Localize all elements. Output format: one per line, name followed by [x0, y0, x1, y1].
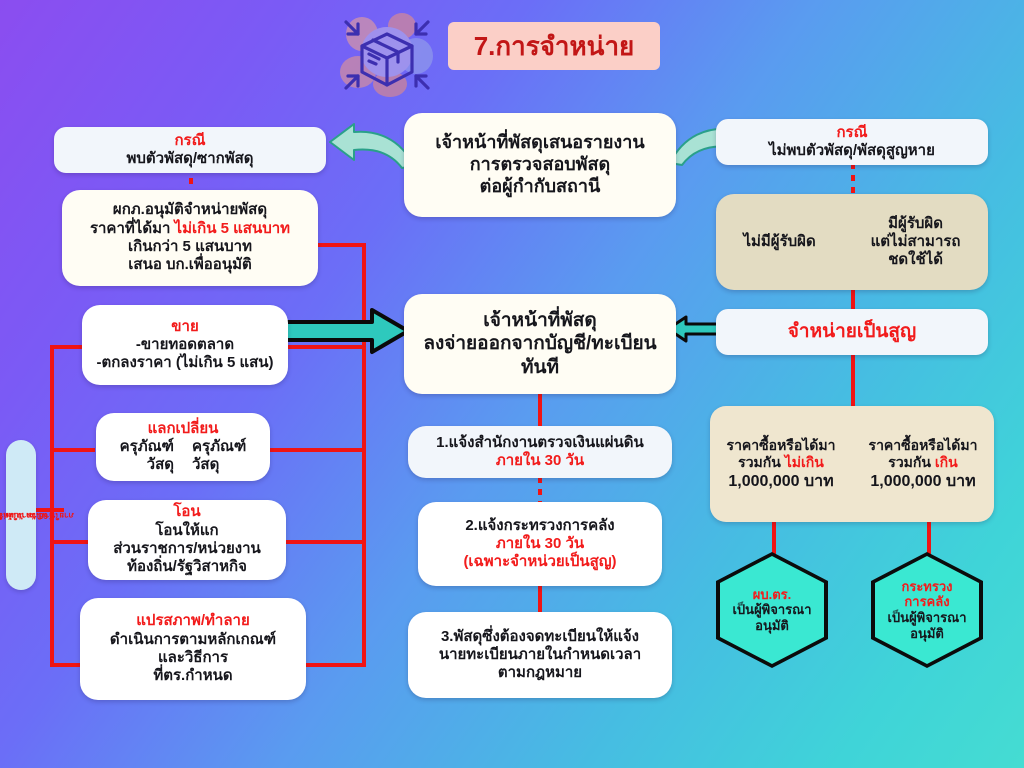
connector-center-to-step1 [538, 394, 542, 427]
connector-step2-to-step3 [538, 585, 542, 613]
option-transform-destroy[interactable]: แปรสภาพ/ทำลาย ดำเนินการตามหลักเกณฑ์ และว… [80, 598, 306, 700]
approve-disposal-line-1: ผกภ.อนุมัติจำหน่ายพัสดุ [113, 201, 267, 219]
price1-line-2a: รวมกัน [738, 454, 785, 470]
connector-loss-to-prices [851, 355, 855, 407]
option-destroy-title: แปรสภาพ/ทำลาย [136, 612, 249, 630]
option-destroy-line-3: ที่ตร.กำหนด [153, 667, 232, 685]
step-notify-registrar[interactable]: 3.พัสดุซึ่งต้องจดทะเบียนให้แจ้ง นายทะเบี… [408, 612, 672, 698]
connector-destroy-to-bus [305, 663, 366, 667]
approver-finance-ministry-hex[interactable]: กระทรวง การคลัง เป็นผู้พิจารณา อนุมัติ [871, 552, 983, 668]
price-exceeding-box[interactable]: ราคาซื้อหรือได้มา รวมกัน เกิน 1,000,000 … [852, 406, 994, 522]
approver2-line-2: อนุมัติ [910, 626, 944, 642]
option-destroy-line-2: และวิธีการ [158, 649, 228, 667]
option-exchange-row-2: วัสดุ วัสดุ [147, 456, 220, 474]
connector-options-bus [362, 243, 366, 665]
liability-responsible-l2: แต่ไม่สามารถ [871, 233, 961, 251]
officer-report-box[interactable]: เจ้าหน้าที่พัสดุเสนอรายงาน การตรวจสอบพัส… [404, 113, 676, 217]
approver2-line-1: เป็นผู้พิจารณา [887, 610, 966, 626]
case-not-found-box[interactable]: กรณี ไม่พบตัวพัสดุ/พัสดุสูญหาย [716, 119, 988, 165]
price2-line-3: 1,000,000 บาท [870, 472, 975, 492]
liability-responsible-group: มีผู้รับผิด แต่ไม่สามารถ ชดใช้ได้ [871, 215, 961, 270]
officer-report-line-1: เจ้าหน้าที่พัสดุเสนอรายงาน [435, 132, 644, 154]
price2-line-2: รวมกัน เกิน [888, 454, 957, 472]
write-off-line-3: ทันที [521, 356, 559, 379]
approver2-title-2: การคลัง [904, 594, 949, 610]
option-exchange[interactable]: แลกเปลี่ยน ครุภัณฑ์ ครุภัณฑ์ วัสดุ วัสดุ [96, 413, 270, 481]
option-destroy-line-1: ดำเนินการตามหลักเกณฑ์ [110, 631, 276, 649]
case-found-label: กรณี [174, 132, 205, 150]
option-exchange-row-1: ครุภัณฑ์ ครุภัณฑ์ [120, 438, 247, 456]
write-off-line-1: เจ้าหน้าที่พัสดุ [483, 309, 596, 332]
price1-line-1: ราคาซื้อหรือได้มา [727, 437, 836, 455]
approve-disposal-line-2: ราคาที่ได้มา ไม่เกิน 5 แสนบาท [90, 220, 290, 238]
step-notify-finance-ministry[interactable]: 2.แจ้งกระทรวงการคลัง ภายใน 30 วัน (เฉพาะ… [418, 502, 662, 586]
approve-disposal-line-2b: ไม่เกิน 5 แสนบาท [175, 220, 290, 237]
write-off-line-2: ลงจ่ายออกจากบัญชี/ทะเบียน [423, 332, 656, 355]
option-sell[interactable]: ขาย -ขายทอดตลาด -ตกลงราคา (ไม่เกิน 5 แสน… [82, 305, 288, 385]
officer-report-line-2: การตรวจสอบพัสดุ [470, 154, 610, 176]
price2-line-1: ราคาซื้อหรือได้มา [869, 437, 978, 455]
price2-line-2b: เกิน [935, 454, 958, 470]
option-exchange-l1b: ครุภัณฑ์ [192, 438, 246, 456]
option-sell-line-1: -ขายทอดตลาด [136, 336, 234, 354]
approver1-line-1: เป็นผู้พิจารณา [732, 602, 811, 618]
approve-disposal-line-2a: ราคาที่ได้มา [90, 220, 175, 237]
page-title-text: 7.การจำหน่าย [474, 26, 635, 67]
diagram-canvas: 7.การจำหน่าย [0, 0, 1024, 768]
arrow-right-thick-icon [286, 308, 410, 354]
case-not-found-label: กรณี [836, 124, 867, 142]
step2-line-3: (เฉพาะจำหน่วยเป็นสูญ) [463, 553, 616, 571]
option-sell-title: ขาย [171, 318, 198, 336]
option-transfer-title: โอน [173, 503, 200, 521]
price-not-exceeding-box[interactable]: ราคาซื้อหรือได้มา รวมกัน ไม่เกิน 1,000,0… [710, 406, 852, 522]
connector-step1-to-step2 [538, 477, 542, 503]
approver-commissioner-hex[interactable]: ผบ.ตร. เป็นผู้พิจารณา อนุมัติ [716, 552, 828, 668]
page-title: 7.การจำหน่าย [448, 22, 660, 70]
step3-line-1: 3.พัสดุซึ่งต้องจดทะเบียนให้แจ้ง [441, 628, 639, 646]
price1-line-3: 1,000,000 บาท [728, 472, 833, 492]
liability-box[interactable]: ไม่มีผู้รับผิด มีผู้รับผิด แต่ไม่สามารถ … [716, 194, 988, 290]
option-exchange-title: แลกเปลี่ยน [148, 420, 219, 438]
approver2-title-1: กระทรวง [901, 579, 952, 595]
liability-no-responsible: ไม่มีผู้รับผิด [743, 233, 815, 251]
connector-liability-to-loss [851, 290, 855, 310]
write-off-box[interactable]: เจ้าหน้าที่พัสดุ ลงจ่ายออกจากบัญชี/ทะเบี… [404, 294, 676, 394]
step2-line-2: ภายใน 30 วัน [496, 535, 584, 553]
connector-exchange-to-bus [270, 448, 366, 452]
option-transfer-line-1: โอนให้แก [155, 522, 218, 540]
step-notify-audit-office[interactable]: 1.แจ้งสำนักงานตรวจเงินแผ่นดิน ภายใน 30 ว… [408, 426, 672, 478]
officer-report-line-3: ต่อผู้กำกับสถานี [480, 176, 601, 198]
approve-disposal-box[interactable]: ผกภ.อนุมัติจำหน่ายพัสดุ ราคาที่ได้มา ไม่… [62, 190, 318, 286]
connector-left-bus [50, 345, 54, 665]
option-sell-line-2: -ตกลงราคา (ไม่เกิน 5 แสน) [96, 354, 273, 372]
step3-line-2: นายทะเบียนภายในกำหนดเวลา [439, 646, 641, 664]
step1-line-1: 1.แจ้งสำนักงานตรวจเงินแผ่นดิน [436, 434, 644, 452]
option-transfer-line-2: ส่วนราชการ/หน่วยงาน [113, 540, 261, 558]
write-off-as-loss-label: จำหน่ายเป็นสูญ [788, 320, 916, 343]
write-off-as-loss-box[interactable]: จำหน่ายเป็นสูญ [716, 309, 988, 355]
option-exchange-l2b: วัสดุ [192, 456, 219, 474]
liability-responsible-l3: ชดใช้ได้ [871, 251, 961, 269]
connector-transfer-to-bus [286, 540, 366, 544]
step2-line-1: 2.แจ้งกระทรวงการคลัง [465, 517, 614, 535]
case-not-found-text: ไม่พบตัวพัสดุ/พัสดุสูญหาย [769, 142, 935, 160]
step3-line-3: ตามกฎหมาย [498, 664, 582, 682]
approver1-line-2: อนุมัติ [755, 618, 789, 634]
option-transfer-line-3: ท้องถิ่น/รัฐวิสาหกิจ [127, 558, 247, 576]
deadline-line-2: ภายใน 60 วัน นับแต่วันที่สั่ง [0, 510, 74, 521]
option-exchange-l2a: วัสดุ [147, 456, 174, 474]
option-transfer[interactable]: โอน โอนให้แก ส่วนราชการ/หน่วยงาน ท้องถิ่… [88, 500, 286, 580]
case-found-text: พบตัวพัสดุ/ซากพัสดุ [127, 150, 254, 168]
connector-left-stub-exchange [50, 448, 95, 452]
deadline-side-label-text: ดำเนินการให้แล้วเสร็จ ภายใน 60 วัน นับแต… [10, 468, 32, 562]
price-splash-group: ราคาซื้อหรือได้มา รวมกัน ไม่เกิน 1,000,0… [710, 406, 994, 522]
price1-line-2: รวมกัน ไม่เกิน [738, 454, 824, 472]
price1-line-2b: ไม่เกิน [785, 454, 824, 470]
connector-case-notfound-to-liability [851, 163, 855, 195]
liability-responsible-l1: มีผู้รับผิด [871, 215, 961, 233]
approver1-title: ผบ.ตร. [753, 587, 792, 603]
step1-line-2: ภายใน 30 วัน [496, 452, 584, 470]
approve-disposal-line-4: เสนอ บก.เพื่ออนุมัติ [128, 256, 251, 274]
package-box-distribute-icon [328, 4, 446, 104]
deadline-side-label[interactable]: ดำเนินการให้แล้วเสร็จ ภายใน 60 วัน นับแต… [6, 440, 36, 590]
option-exchange-l1a: ครุภัณฑ์ [120, 438, 174, 456]
approve-disposal-line-3: เกินกว่า 5 แสนบาท [128, 238, 252, 256]
case-found-box[interactable]: กรณี พบตัวพัสดุ/ซากพัสดุ [54, 127, 326, 173]
price2-line-2a: รวมกัน [888, 454, 935, 470]
